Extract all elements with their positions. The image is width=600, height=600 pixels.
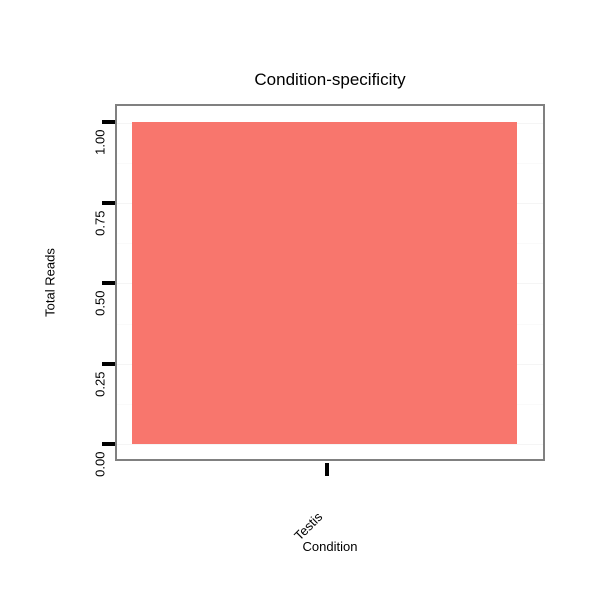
y-tick-mark-0 [102, 442, 115, 446]
x-axis-title: Condition [0, 539, 600, 554]
plot-panel [115, 104, 545, 461]
bar-chart: Condition-specificity Total Reads 0.00 0… [0, 0, 600, 600]
y-tick-mark-1 [102, 362, 115, 366]
y-tick-mark-4 [102, 120, 115, 124]
chart-title: Condition-specificity [0, 70, 600, 90]
bar-testis [132, 122, 517, 444]
panel-inner [117, 106, 543, 459]
x-tick-label-testis: Testis [230, 509, 325, 600]
y-axis-title: Total Reads [43, 223, 58, 343]
gridline-major-0 [117, 444, 543, 445]
x-tick-mark-0 [325, 463, 329, 476]
y-tick-mark-2 [102, 281, 115, 285]
y-tick-mark-3 [102, 201, 115, 205]
y-tick-label-4: 1.00 [93, 130, 108, 250]
